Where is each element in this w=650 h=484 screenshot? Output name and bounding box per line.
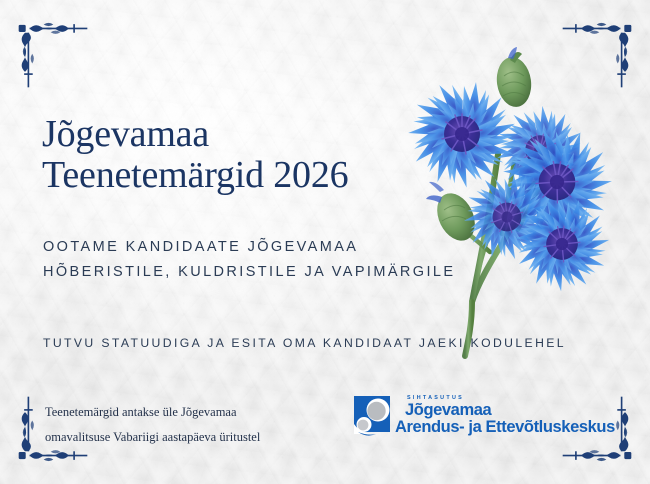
poster-footnote: Teenetemärgid antakse üle Jõgevamaa omav… [45, 400, 260, 450]
poster-canvas: Jõgevamaa Teenetemärgid 2026 OOTAME KAND… [0, 0, 650, 484]
corner-ornament-top-left-icon [14, 14, 92, 92]
logo-line-one: Jõgevamaa [405, 402, 615, 419]
logo-mark-icon [352, 394, 396, 438]
logo-wordmark: SIHTASUTUS Jõgevamaa Arendus- ja Ettevõt… [405, 395, 615, 436]
page-title: Jõgevamaa Teenetemärgid 2026 [42, 114, 348, 196]
organization-logo: SIHTASUTUS Jõgevamaa Arendus- ja Ettevõt… [352, 394, 615, 438]
logo-line-two: Arendus- ja Ettevõtluskeskus [395, 419, 615, 436]
poster-subtitle: OOTAME KANDIDAATE JÕGEVAMAA HÕBERISTILE,… [43, 235, 455, 285]
corner-ornament-top-right-icon [558, 14, 636, 92]
call-to-action-text: TUTVU STATUUDIGA JA ESITA OMA KANDIDAAT … [43, 336, 566, 350]
